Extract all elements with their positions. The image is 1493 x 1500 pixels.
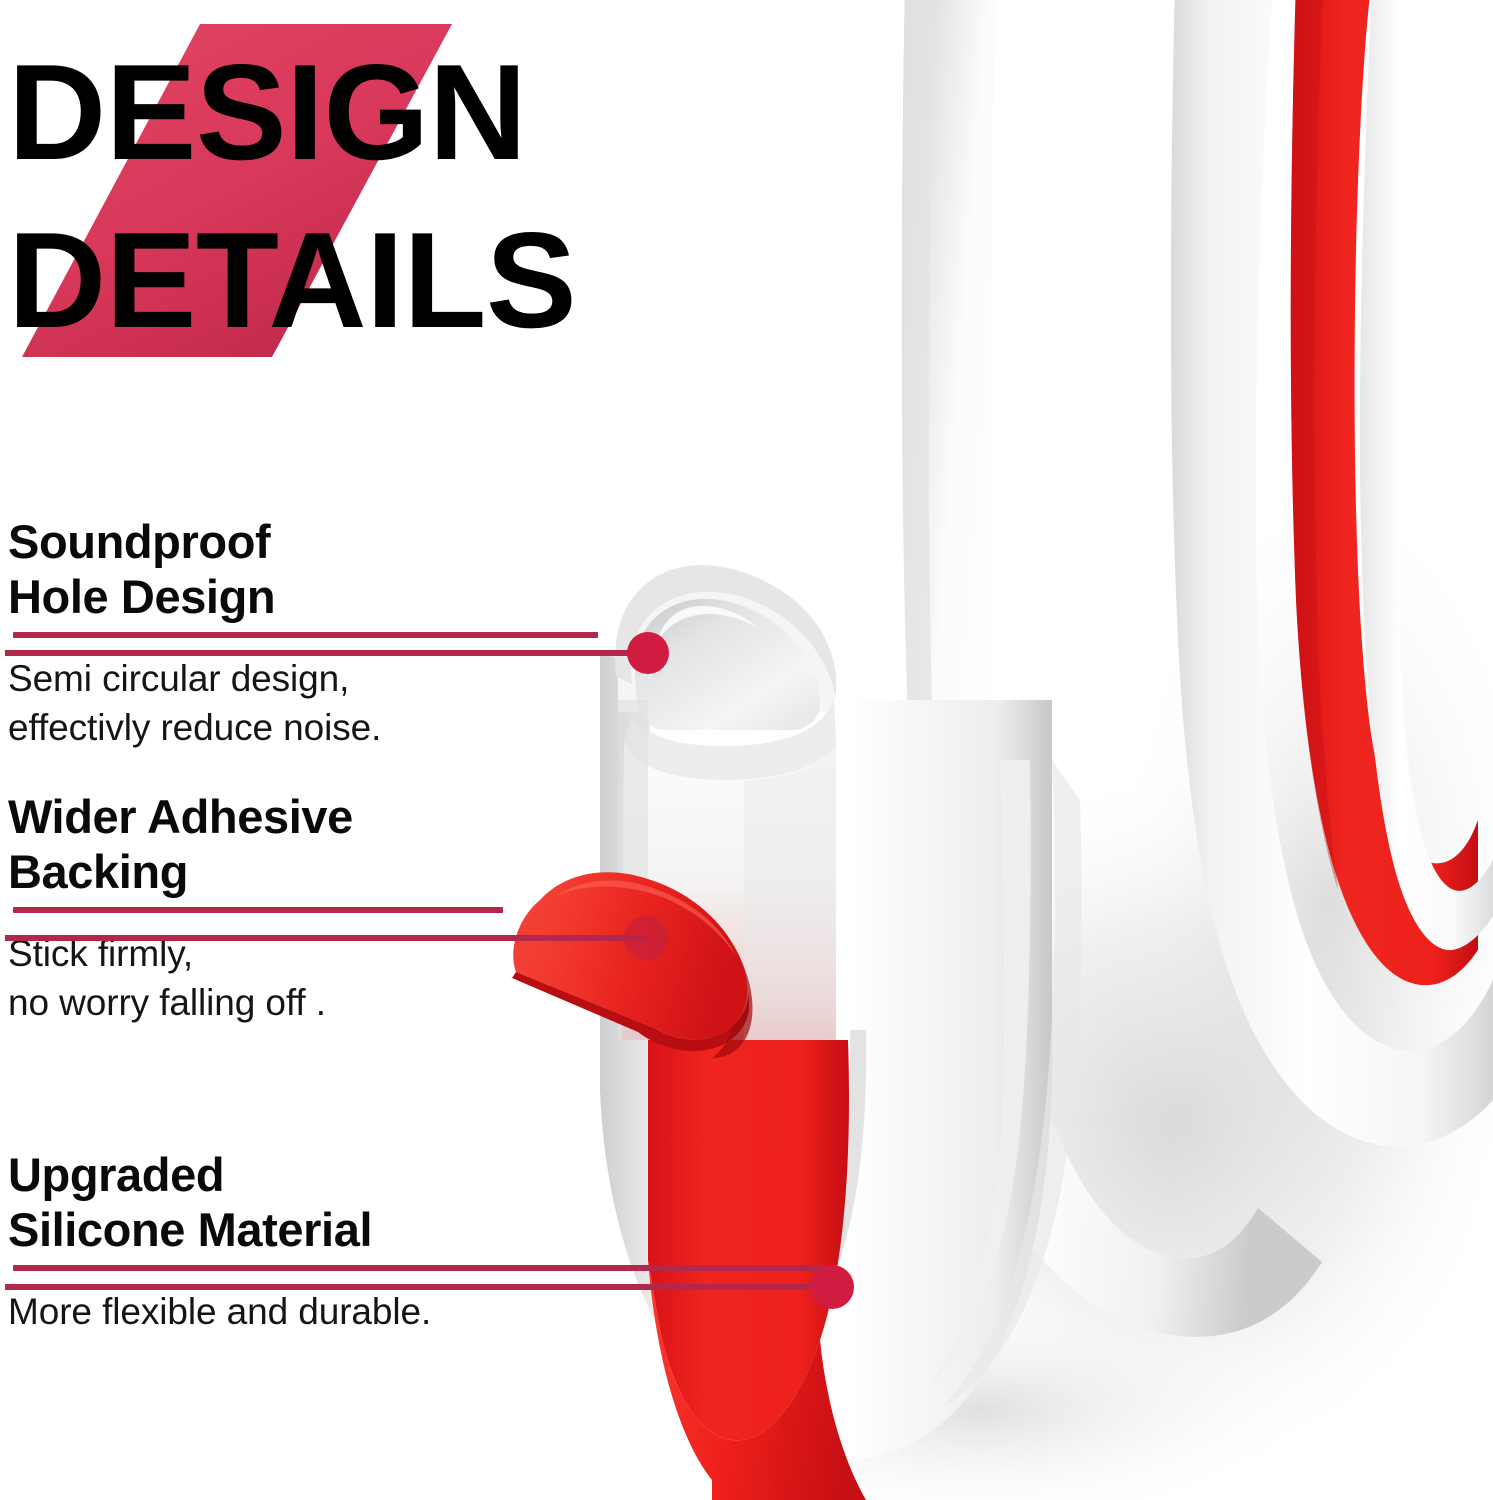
feature-upgraded-silicone-material: Upgraded Silicone Material More flexible…: [8, 1148, 648, 1337]
feature-divider-row: [8, 1258, 648, 1280]
feature-divider-line: [13, 632, 598, 638]
infographic-page: DESIGN DETAILS Soundproof Hole Design Se…: [0, 0, 1493, 1500]
feature-divider-line: [13, 907, 503, 913]
feature-divider-row: [8, 900, 648, 922]
feature-heading: Wider Adhesive Backing: [8, 790, 648, 900]
feature-body: Stick firmly, no worry falling off .: [8, 922, 648, 1028]
feature-heading: Soundproof Hole Design: [8, 515, 648, 625]
page-title: DESIGN DETAILS: [0, 0, 760, 380]
title-line-details: DETAILS: [8, 212, 576, 348]
feature-body: Semi circular design, effectivly reduce …: [8, 647, 648, 753]
feature-heading: Upgraded Silicone Material: [8, 1148, 648, 1258]
feature-body: More flexible and durable.: [8, 1280, 648, 1337]
feature-soundproof-hole-design: Soundproof Hole Design Semi circular des…: [8, 515, 648, 753]
title-line-design: DESIGN: [8, 44, 526, 180]
feature-divider-row: [8, 625, 648, 647]
feature-divider-line: [13, 1265, 828, 1271]
feature-wider-adhesive-backing: Wider Adhesive Backing Stick firmly, no …: [8, 790, 648, 1028]
